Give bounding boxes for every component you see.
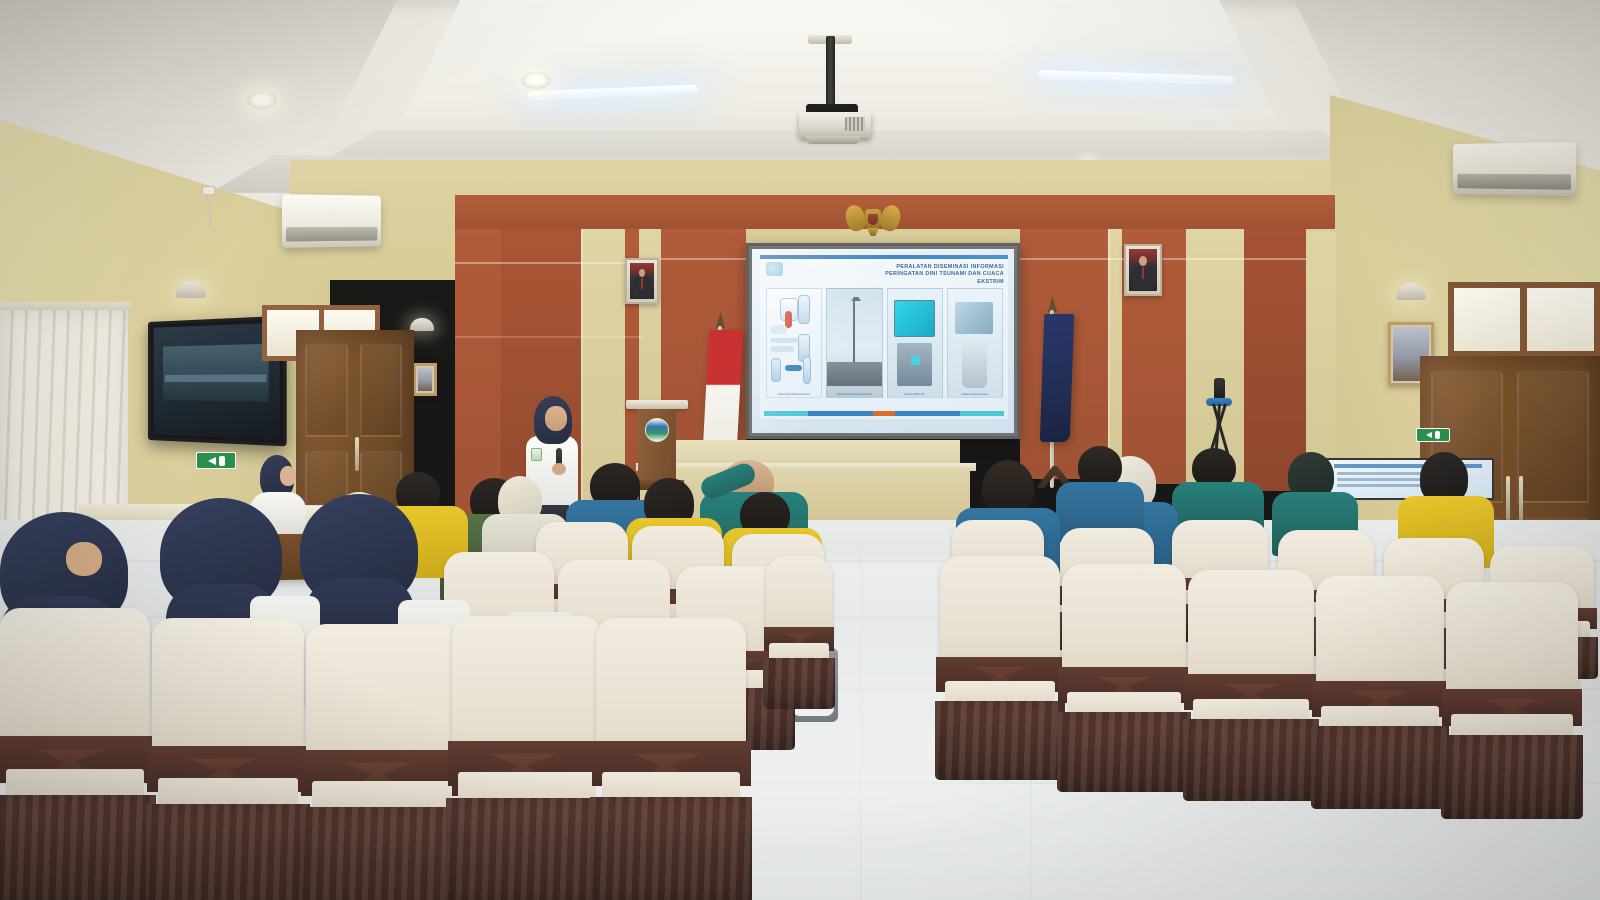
wall-socket xyxy=(202,186,215,195)
door-left-panel-1 xyxy=(305,344,347,437)
wall-column-7 xyxy=(1244,229,1306,491)
presentation-slide: PERALATAN DISEMINASI INFORMASI PERINGATA… xyxy=(760,255,1008,419)
chair-f4[interactable] xyxy=(452,616,602,900)
television-image-stripe xyxy=(165,374,266,382)
equipment-upper xyxy=(955,302,993,334)
president-portrait xyxy=(625,258,659,304)
chair-f2[interactable] xyxy=(152,618,304,900)
wall-reveal-line-2 xyxy=(661,258,747,260)
wall-reveal-line-6 xyxy=(1108,229,1110,479)
window-right xyxy=(1448,282,1600,357)
chair-fr4-skirt xyxy=(1311,726,1449,808)
garuda-wing-right xyxy=(878,203,903,233)
kiosk-panel-caption: Display WRS NG xyxy=(888,393,942,396)
projection-surface: PERALATAN DISEMINASI INFORMASI PERINGATA… xyxy=(752,249,1014,433)
chair-fr4[interactable] xyxy=(1316,576,1444,804)
chair-f4-skirt xyxy=(446,798,608,900)
portrait-image-left xyxy=(630,263,654,299)
door-right-handle-1[interactable] xyxy=(1506,476,1510,520)
lectern-roundel-icon xyxy=(645,418,669,442)
footer-seg-1 xyxy=(764,411,808,416)
kiosk-screen xyxy=(894,300,935,337)
window-right-mullion xyxy=(1520,288,1527,351)
projector-mount-pole xyxy=(826,36,835,108)
chair-fr5-skirt xyxy=(1441,735,1584,819)
chair-fr1-skirt xyxy=(935,701,1065,780)
chair-fr2-skirt xyxy=(1057,712,1191,793)
chair-c7[interactable] xyxy=(766,556,832,706)
chair-f1[interactable] xyxy=(0,608,150,900)
exit-sign-right-icon xyxy=(1416,428,1450,442)
projector-vent xyxy=(845,117,865,131)
ceiling-inner-recess xyxy=(355,0,1315,118)
television-screen xyxy=(154,323,280,440)
chair-fr2[interactable] xyxy=(1062,564,1186,788)
portrait-face-left xyxy=(639,269,646,278)
footer-seg-5 xyxy=(960,411,1004,416)
wall-reveal-line-3 xyxy=(1020,258,1306,260)
display-kiosk-panel: Display WRS NG xyxy=(887,288,943,398)
chair-fr3-skirt xyxy=(1183,719,1319,800)
staff-face xyxy=(280,466,296,486)
slide-title-line-2: PERINGATAN DINI TSUNAMI DAN CUACA xyxy=(824,271,1004,278)
wall-picture-left-image xyxy=(418,368,432,391)
ceiling-downlight-1 xyxy=(521,72,551,89)
infographic-panel-caption: Diseminasi Media Informasi xyxy=(767,393,821,396)
door-right-handle-2[interactable] xyxy=(1519,476,1523,520)
exit-person-right-icon xyxy=(1435,431,1440,439)
indonesia-flag xyxy=(703,330,743,448)
weather-equipment-panel: Radar Cuaca Otomatis xyxy=(947,288,1003,398)
exit-person-icon xyxy=(219,456,225,466)
portrait-tie-right xyxy=(1142,267,1145,280)
wall-panel-cream-3 xyxy=(1108,229,1122,479)
wall-reveal-line-5 xyxy=(581,229,583,529)
chair-fr3[interactable] xyxy=(1188,570,1314,796)
chair-f3[interactable] xyxy=(306,624,458,900)
portrait-face-right xyxy=(1139,256,1147,266)
institution-flag xyxy=(1040,314,1074,442)
room-scene: PERALATAN DISEMINASI INFORMASI PERINGATA… xyxy=(0,0,1600,900)
exit-arrow-right-icon xyxy=(1426,432,1432,438)
tower-ground xyxy=(827,362,881,386)
camera-icon xyxy=(1214,378,1225,400)
ceiling-downlight-2 xyxy=(247,92,277,109)
tower-panel-caption: Menara Sirine Peringatan Dini xyxy=(827,393,881,396)
exit-arrow-icon xyxy=(208,457,216,465)
chair-f2-skirt xyxy=(146,804,310,900)
slide-title: PERALATAN DISEMINASI INFORMASI PERINGATA… xyxy=(824,264,1004,286)
presenter-face xyxy=(545,406,567,431)
ac-vent-left xyxy=(286,227,377,241)
wall-reveal-line-1 xyxy=(455,262,645,264)
television-image xyxy=(163,344,269,402)
chair-c7-skirt xyxy=(763,658,834,709)
slide-title-line-3: EKSTRIM xyxy=(824,279,1004,286)
wall-picture-left xyxy=(413,363,437,396)
lectern-top xyxy=(626,400,688,409)
wall-reveal-line-4 xyxy=(455,336,645,338)
chair-fr1[interactable] xyxy=(940,556,1060,776)
chair-f5[interactable] xyxy=(596,618,746,898)
door-left-handle[interactable] xyxy=(355,437,359,471)
projection-screen: PERALATAN DISEMINASI INFORMASI PERINGATA… xyxy=(746,243,1020,439)
equipment-panel-caption: Radar Cuaca Otomatis xyxy=(948,393,1002,396)
tower-mast xyxy=(853,298,855,369)
slide-panel-row: Diseminasi Media Informasi Menara Sirine… xyxy=(766,288,1003,398)
chair-f3-skirt xyxy=(300,807,464,900)
slide-footer-bar xyxy=(764,411,1004,416)
monitor-ui-line-2 xyxy=(1337,478,1431,481)
chair-f5-skirt xyxy=(590,797,752,900)
portrait-image-right xyxy=(1129,249,1157,291)
garuda-tail xyxy=(867,228,879,236)
footer-seg-3 xyxy=(873,411,895,416)
ac-vent-right xyxy=(1457,174,1570,190)
slide-top-bar xyxy=(760,255,1008,259)
infographic-panel: Diseminasi Media Informasi xyxy=(766,288,822,398)
door-left-panel-2 xyxy=(360,344,402,437)
footer-seg-4 xyxy=(895,411,960,416)
vice-president-portrait xyxy=(1124,244,1162,296)
chair-fr5[interactable] xyxy=(1446,582,1578,814)
projector-lens xyxy=(806,136,860,144)
chair-f1-skirt xyxy=(0,795,156,900)
exit-sign-icon xyxy=(196,452,236,469)
garuda-emblem-icon xyxy=(846,203,900,237)
equipment-lower xyxy=(962,341,987,389)
warning-siren-tower-panel: Menara Sirine Peringatan Dini xyxy=(826,288,882,398)
garuda-shield xyxy=(868,214,878,225)
air-conditioner-right xyxy=(1453,142,1576,196)
presenter-hand xyxy=(552,463,566,475)
door-right-panel-2 xyxy=(1517,371,1589,503)
kiosk-button-icon xyxy=(911,356,920,365)
attendee-l1-face xyxy=(66,542,102,576)
air-conditioner-left xyxy=(282,194,381,248)
presenter-badge xyxy=(531,448,542,461)
portrait-tie-left xyxy=(641,278,643,289)
footer-seg-2 xyxy=(808,411,873,416)
slide-logo-icon xyxy=(766,262,783,276)
